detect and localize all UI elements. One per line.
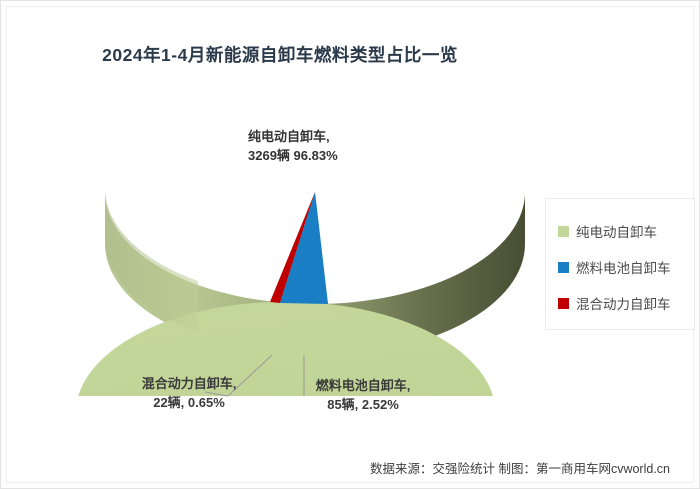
legend-label: 燃料电池自卸车 — [576, 257, 671, 277]
pie-slice-top-fuel-cell — [280, 192, 328, 304]
legend-item-hybrid[interactable]: 混合动力自卸车 — [558, 285, 694, 321]
legend-item-fuel-cell[interactable]: 燃料电池自卸车 — [558, 249, 694, 285]
legend-swatch-icon — [558, 262, 569, 273]
legend-label: 混合动力自卸车 — [576, 293, 671, 313]
legend-item-pure-electric[interactable]: 纯电动自卸车 — [558, 213, 694, 249]
legend-label: 纯电动自卸车 — [576, 221, 657, 241]
data-label-hybrid: 混合动力自卸车, 22辆, 0.65% — [104, 375, 274, 413]
chart-page: 2024年1-4月新能源自卸车燃料类型占比一览 — [0, 0, 700, 489]
data-label-fuel-cell-line1: 燃料电池自卸车, — [278, 377, 448, 396]
data-label-fuel-cell-line2: 85辆, 2.52% — [278, 396, 448, 415]
legend-swatch-icon — [558, 226, 569, 237]
page-title: 2024年1-4月新能源自卸车燃料类型占比一览 — [0, 42, 560, 67]
legend-swatch-icon — [558, 298, 569, 309]
data-label-pure-electric-line2: 3269辆 96.83% — [248, 147, 338, 166]
data-label-pure-electric: 纯电动自卸车, 3269辆 96.83% — [248, 128, 338, 166]
data-label-hybrid-line1: 混合动力自卸车, — [104, 375, 274, 394]
data-label-hybrid-line2: 22辆, 0.65% — [104, 394, 274, 413]
data-label-fuel-cell: 燃料电池自卸车, 85辆, 2.52% — [278, 377, 448, 415]
data-label-pure-electric-line1: 纯电动自卸车, — [248, 128, 338, 147]
chart-legend: 纯电动自卸车 燃料电池自卸车 混合动力自卸车 — [545, 198, 695, 330]
source-note: 数据来源：交强险统计 制图：第一商用车网cvworld.cn — [0, 458, 686, 477]
